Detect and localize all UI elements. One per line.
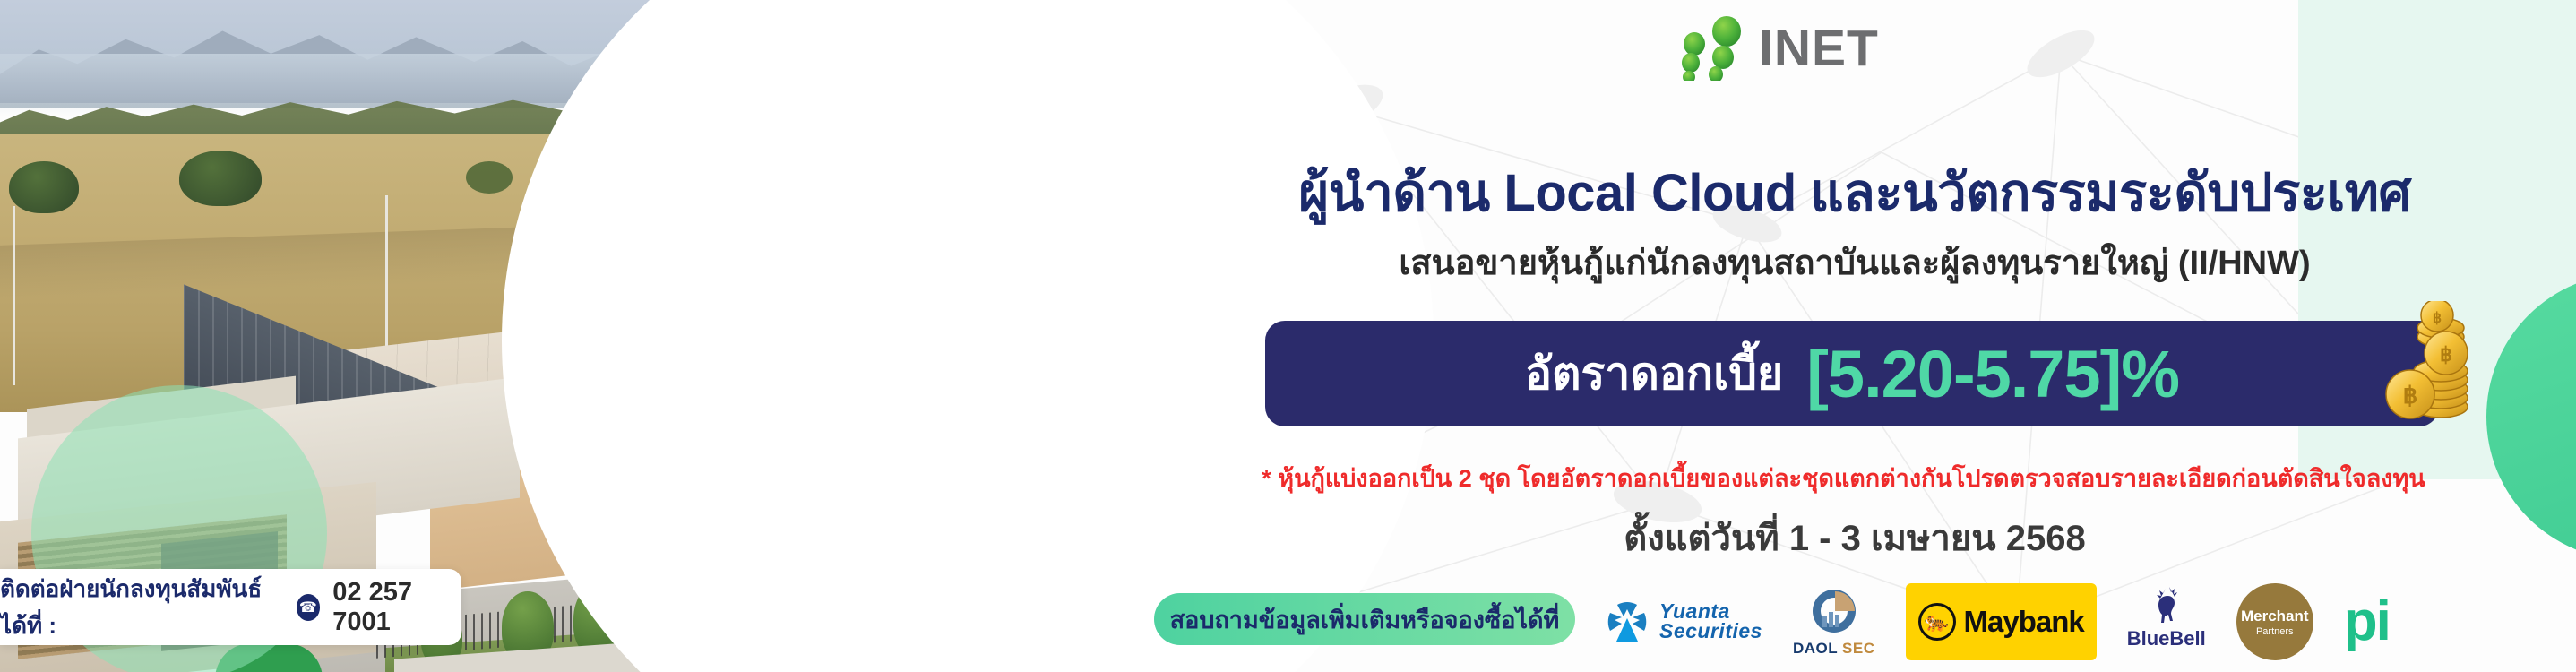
- interest-rate-box: อัตราดอกเบี้ย [5.20-5.75]%: [1265, 321, 2439, 426]
- investor-relations-contact-card: ติดต่อฝ่ายนักลงทุนสัมพันธ์ได้ที่ : ☎ 02 …: [0, 569, 461, 645]
- inet-wordmark: INET: [1759, 23, 1879, 74]
- merchant-name-line2: Partners: [2256, 626, 2294, 637]
- broker-logo-daol[interactable]: DAOL SEC: [1793, 583, 1875, 660]
- rate-value: [5.20-5.75]%: [1806, 336, 2179, 412]
- merchant-name-line1: Merchant: [2241, 607, 2309, 625]
- inquiry-cta-button[interactable]: สอบถามข้อมูลเพิ่มเติมหรือจองซื้อได้ที่: [1154, 593, 1575, 645]
- maybank-wordmark: Maybank: [1964, 605, 2084, 639]
- broker-logo-bluebell[interactable]: BlueBell: [2127, 583, 2206, 660]
- date-range-text: ตั้งแต่วันที่ 1 - 3 เมษายน 2568: [1156, 509, 2554, 566]
- pi-wordmark: pi: [2344, 599, 2390, 644]
- broker-logo-pi[interactable]: pi: [2344, 583, 2390, 660]
- daol-name-line1: DAOL: [1793, 640, 1838, 657]
- svg-text:฿: ฿: [2403, 383, 2418, 409]
- broker-logo-row: Yuanta Securities DAOL SEC: [1604, 581, 2509, 663]
- rate-label: อัตราดอกเบี้ย: [1525, 339, 1783, 409]
- daol-name-line2: SEC: [1842, 640, 1874, 657]
- inet-promo-banner: INET ผู้นำด้าน Local Cloud และนวัตกรรมระ…: [0, 0, 2576, 672]
- broker-logo-yuanta[interactable]: Yuanta Securities: [1604, 583, 1762, 660]
- yuanta-star-icon: [1604, 599, 1650, 645]
- maybank-tiger-icon: 🐅: [1918, 603, 1956, 641]
- svg-text:฿: ฿: [2440, 343, 2452, 366]
- disclaimer-text: * หุ้นกู้แบ่งออกเป็น 2 ชุด โดยอัตราดอกเบ…: [1111, 459, 2576, 497]
- bluebell-wordmark: BlueBell: [2127, 627, 2206, 650]
- inet-logo: INET: [1662, 16, 1958, 81]
- headline: ผู้นำด้าน Local Cloud และนวัตกรรมระดับปร…: [1156, 151, 2554, 234]
- svg-text:฿: ฿: [2433, 311, 2442, 326]
- daol-circle-icon: [1809, 586, 1859, 636]
- contact-phone-number: 02 257 7001: [332, 578, 461, 637]
- inet-bubbles-icon: [1662, 16, 1761, 81]
- yuanta-name-line2: Securities: [1659, 622, 1762, 642]
- broker-logo-merchant[interactable]: Merchant Partners: [2236, 583, 2313, 660]
- phone-icon: ☎: [297, 594, 321, 621]
- contact-label: ติดต่อฝ่ายนักลงทุนสัมพันธ์ได้ที่ :: [0, 571, 284, 644]
- bluebell-deer-icon: [2146, 583, 2187, 625]
- gold-coins-icon: ฿ ฿ ฿: [2358, 301, 2493, 435]
- broker-logo-maybank[interactable]: 🐅 Maybank: [1906, 583, 2097, 660]
- subheadline: เสนอขายหุ้นกู้แก่นักลงทุนสถาบันและผู้ลงท…: [1156, 235, 2554, 289]
